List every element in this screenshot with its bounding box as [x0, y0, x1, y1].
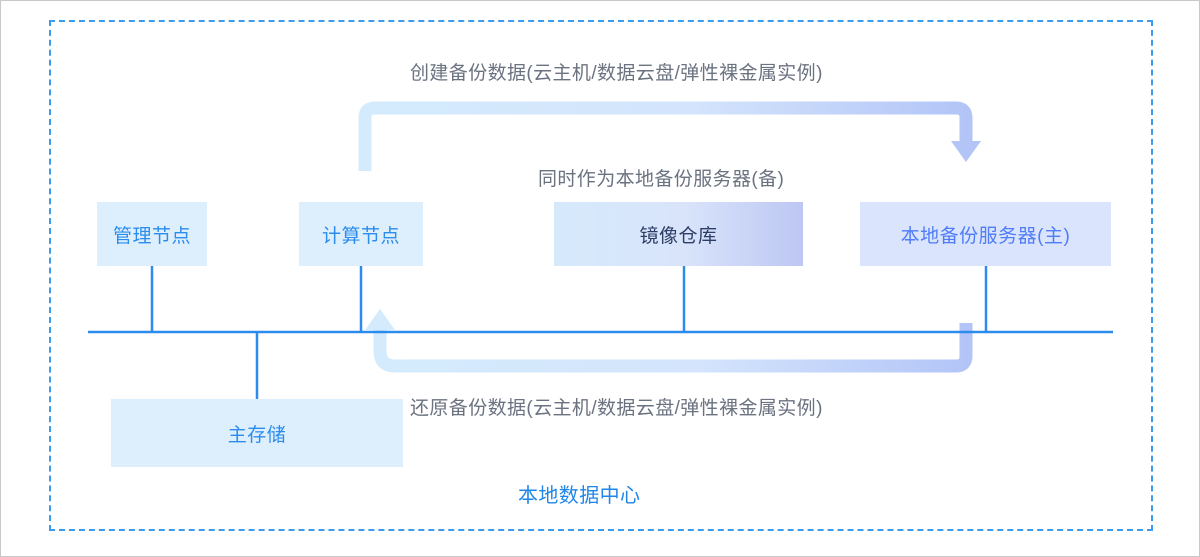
restore-backup-flow-arrow — [365, 309, 966, 366]
restore-backup-flow-label: 还原备份数据(云主机/数据云盘/弹性裸金属实例) — [410, 393, 823, 420]
node-local-backup-server[interactable]: 本地备份服务器(主) — [860, 202, 1111, 266]
local-data-center-label: 本地数据中心 — [518, 479, 640, 508]
create-backup-flow-arrow — [365, 108, 981, 171]
standby-role-note: 同时作为本地备份服务器(备) — [538, 164, 784, 191]
node-management-node[interactable]: 管理节点 — [97, 202, 207, 266]
diagram-canvas: 创建备份数据(云主机/数据云盘/弹性裸金属实例) 同时作为本地备份服务器(备) … — [0, 0, 1200, 557]
create-backup-flow-label: 创建备份数据(云主机/数据云盘/弹性裸金属实例) — [410, 58, 823, 85]
node-primary-storage[interactable]: 主存储 — [111, 399, 403, 467]
node-compute-node[interactable]: 计算节点 — [299, 202, 423, 266]
node-image-registry[interactable]: 镜像仓库 — [554, 202, 803, 266]
